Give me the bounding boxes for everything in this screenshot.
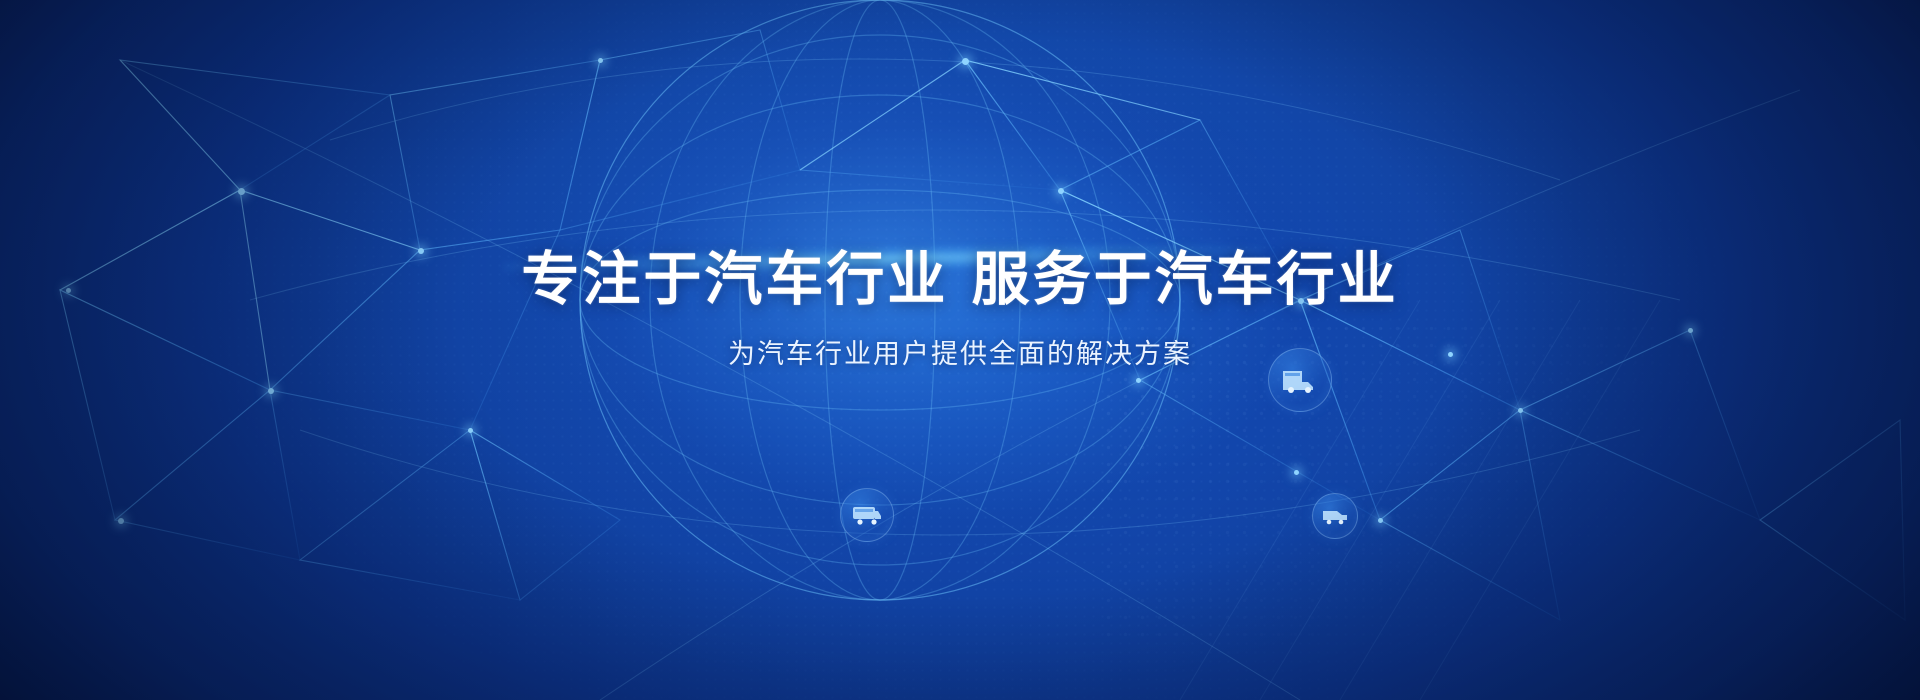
- hero-text-block: 专注于汽车行业 服务于汽车行业 为汽车行业用户提供全面的解决方案: [0, 0, 1920, 700]
- hero-title: 专注于汽车行业 服务于汽车行业: [521, 249, 1398, 310]
- bus-badge-icon: [840, 488, 894, 542]
- hero-banner: 专注于汽车行业 服务于汽车行业 为汽车行业用户提供全面的解决方案: [0, 0, 1920, 700]
- hero-subtitle: 为汽车行业用户提供全面的解决方案: [728, 332, 1192, 371]
- truck-badge-icon: [1268, 348, 1332, 412]
- van-badge-icon: [1312, 493, 1358, 539]
